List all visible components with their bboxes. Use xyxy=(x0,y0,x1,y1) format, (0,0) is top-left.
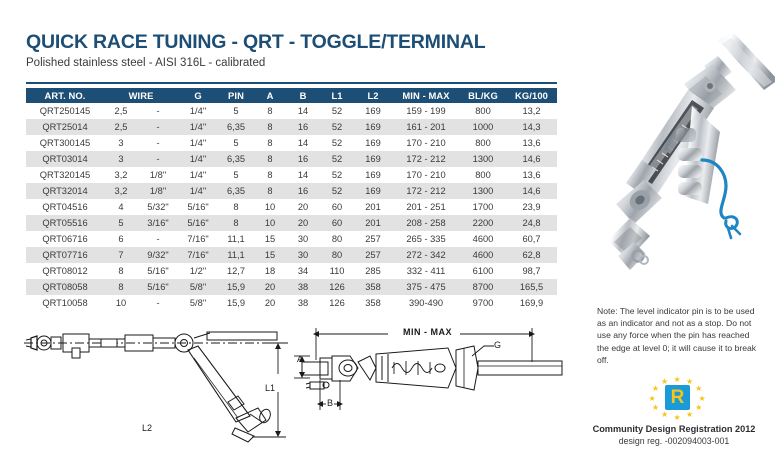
table-row: QRT0551653/16"5/16"8102060201208 - 25822… xyxy=(26,215,557,231)
col-header-art-no: ART. NO. xyxy=(26,88,104,103)
product-photo-illustration xyxy=(600,28,775,298)
cell-kg-100: 165,5 xyxy=(506,279,557,295)
cell-b: 16 xyxy=(286,119,320,135)
cell-kg-100: 24,8 xyxy=(506,215,557,231)
cell-g: 1/4" xyxy=(178,183,218,199)
cell-kg-100: 13,6 xyxy=(506,135,557,151)
eu-star: ★ xyxy=(674,376,681,383)
cell-l2: 257 xyxy=(354,247,392,263)
cell-min-max: 208 - 258 xyxy=(392,215,460,231)
header-divider xyxy=(26,82,557,84)
spec-table-body: QRT2501452,5-1/4"581452169159 - 19980013… xyxy=(26,103,557,311)
technical-drawing-side-view: L1 L2 xyxy=(22,330,290,445)
cell-l2: 169 xyxy=(354,135,392,151)
cell-bl-kg: 1700 xyxy=(460,199,506,215)
page-title: QUICK RACE TUNING - QRT - TOGGLE/TERMINA… xyxy=(26,32,546,53)
cell-a: 20 xyxy=(254,279,286,295)
cell-l1: 60 xyxy=(320,199,354,215)
cell-l1: 52 xyxy=(320,135,354,151)
cell-bl-kg: 6100 xyxy=(460,263,506,279)
cell-wire-mm: 3,2 xyxy=(104,183,138,199)
cell-min-max: 375 - 475 xyxy=(392,279,460,295)
cell-wire-inch: 3/16" xyxy=(138,215,178,231)
cell-kg-100: 14,3 xyxy=(506,119,557,135)
registered-r-icon: R xyxy=(665,385,690,410)
drawing-label-l2: L2 xyxy=(142,423,152,433)
col-header-l2: L2 xyxy=(354,88,392,103)
cell-g: 7/16" xyxy=(178,247,218,263)
cell-wire-mm: 6 xyxy=(104,231,138,247)
cell-wire-inch: - xyxy=(138,231,178,247)
table-row: QRT1005810-5/8"15,92038126358390-4909700… xyxy=(26,295,557,311)
cell-pin: 11,1 xyxy=(218,231,254,247)
drawing-label-l1: L1 xyxy=(265,383,275,393)
cell-l1: 126 xyxy=(320,295,354,311)
table-row: QRT030143-1/4"6,3581652169172 - 21213001… xyxy=(26,151,557,167)
cell-l2: 358 xyxy=(354,279,392,295)
cell-bl-kg: 800 xyxy=(460,167,506,183)
drawing-label-g: G xyxy=(494,340,501,350)
cell-a: 10 xyxy=(254,199,286,215)
drawing-label-a: A xyxy=(297,354,303,364)
credit-line-1: Community Design Registration 2012 xyxy=(574,424,774,436)
table-row: QRT0801285/16"1/2"12,71834110285332 - 41… xyxy=(26,263,557,279)
technical-drawing-extended-view: MIN - MAX A B G xyxy=(288,318,580,430)
cell-min-max: 172 - 212 xyxy=(392,183,460,199)
cell-l2: 169 xyxy=(354,167,392,183)
cell-l1: 52 xyxy=(320,183,354,199)
cell-bl-kg: 1300 xyxy=(460,151,506,167)
eu-star: ★ xyxy=(652,385,659,392)
cell-wire-inch: - xyxy=(138,135,178,151)
cell-min-max: 390-490 xyxy=(392,295,460,311)
cell-b: 14 xyxy=(286,135,320,151)
cell-wire-mm: 3 xyxy=(104,151,138,167)
table-row: QRT067166-7/16"11,1153080257265 - 335460… xyxy=(26,231,557,247)
cell-kg-100: 169,9 xyxy=(506,295,557,311)
cell-g: 5/8" xyxy=(178,279,218,295)
cell-wire-inch: 9/32" xyxy=(138,247,178,263)
cell-l1: 52 xyxy=(320,103,354,119)
col-header-g: G xyxy=(178,88,218,103)
cell-a: 8 xyxy=(254,167,286,183)
cell-wire-inch: 1/8" xyxy=(138,183,178,199)
cell-art-no: QRT03014 xyxy=(26,151,104,167)
cell-wire-mm: 4 xyxy=(104,199,138,215)
cell-b: 38 xyxy=(286,279,320,295)
cell-pin: 12,7 xyxy=(218,263,254,279)
table-row: QRT0805885/16"5/8"15,92038126358375 - 47… xyxy=(26,279,557,295)
eu-design-registration-badge: ★★★★★★★★★★★★ R xyxy=(648,376,706,420)
col-header-bl-kg: BL/KG xyxy=(460,88,506,103)
table-row: QRT3001453-1/4"581452169170 - 21080013,6 xyxy=(26,135,557,151)
cell-a: 18 xyxy=(254,263,286,279)
cell-a: 15 xyxy=(254,247,286,263)
cell-b: 30 xyxy=(286,247,320,263)
cell-a: 8 xyxy=(254,135,286,151)
page-header: QUICK RACE TUNING - QRT - TOGGLE/TERMINA… xyxy=(26,32,546,71)
cell-wire-inch: 5/16" xyxy=(138,279,178,295)
cell-l2: 169 xyxy=(354,183,392,199)
drawing-label-b: B xyxy=(327,398,333,408)
spec-table-header: ART. NO. WIRE G PIN A B L1 L2 MIN - MAX … xyxy=(26,88,557,103)
cell-wire-mm: 8 xyxy=(104,279,138,295)
table-row: QRT0771679/32"7/16"11,1153080257272 - 34… xyxy=(26,247,557,263)
cell-l2: 169 xyxy=(354,119,392,135)
cell-b: 16 xyxy=(286,151,320,167)
cell-l1: 110 xyxy=(320,263,354,279)
cell-l2: 201 xyxy=(354,199,392,215)
cell-min-max: 265 - 335 xyxy=(392,231,460,247)
cell-l2: 257 xyxy=(354,231,392,247)
cell-art-no: QRT08012 xyxy=(26,263,104,279)
cell-wire-mm: 5 xyxy=(104,215,138,231)
eu-star: ★ xyxy=(661,411,668,418)
cell-pin: 6,35 xyxy=(218,151,254,167)
eu-star: ★ xyxy=(686,411,693,418)
cell-kg-100: 14,6 xyxy=(506,183,557,199)
design-registration-credit: Community Design Registration 2012 desig… xyxy=(574,424,774,447)
cell-l1: 126 xyxy=(320,279,354,295)
cell-pin: 5 xyxy=(218,103,254,119)
col-header-b: B xyxy=(286,88,320,103)
cell-wire-inch: 5/32" xyxy=(138,199,178,215)
cell-wire-mm: 2,5 xyxy=(104,119,138,135)
drawing-label-min-max: MIN - MAX xyxy=(403,327,452,337)
cell-l2: 285 xyxy=(354,263,392,279)
col-header-min-max: MIN - MAX xyxy=(392,88,460,103)
spec-table-container: ART. NO. WIRE G PIN A B L1 L2 MIN - MAX … xyxy=(26,88,557,311)
cell-bl-kg: 800 xyxy=(460,103,506,119)
cell-art-no: QRT05516 xyxy=(26,215,104,231)
cell-g: 1/4" xyxy=(178,135,218,151)
cell-bl-kg: 2200 xyxy=(460,215,506,231)
col-header-a: A xyxy=(254,88,286,103)
cell-wire-mm: 3 xyxy=(104,135,138,151)
table-row: QRT250142,5-1/4"6,3581652169161 - 201100… xyxy=(26,119,557,135)
cell-pin: 15,9 xyxy=(218,279,254,295)
cell-pin: 15,9 xyxy=(218,295,254,311)
cell-a: 15 xyxy=(254,231,286,247)
cell-b: 34 xyxy=(286,263,320,279)
cell-kg-100: 62,8 xyxy=(506,247,557,263)
cell-g: 1/2" xyxy=(178,263,218,279)
cell-art-no: QRT320145 xyxy=(26,167,104,183)
product-spec-sheet: QUICK RACE TUNING - QRT - TOGGLE/TERMINA… xyxy=(0,0,777,448)
cell-wire-inch: 1/8" xyxy=(138,167,178,183)
cell-art-no: QRT300145 xyxy=(26,135,104,151)
credit-line-2: design reg. -002094003-001 xyxy=(574,436,774,447)
cell-b: 14 xyxy=(286,167,320,183)
cell-kg-100: 23,9 xyxy=(506,199,557,215)
cell-bl-kg: 8700 xyxy=(460,279,506,295)
cell-g: 7/16" xyxy=(178,231,218,247)
cell-pin: 6,35 xyxy=(218,183,254,199)
cell-art-no: QRT10058 xyxy=(26,295,104,311)
eu-star: ★ xyxy=(699,395,706,402)
cell-min-max: 272 - 342 xyxy=(392,247,460,263)
toggle-fork-end xyxy=(608,180,662,270)
eu-star: ★ xyxy=(661,378,668,385)
cell-bl-kg: 800 xyxy=(460,135,506,151)
cell-min-max: 159 - 199 xyxy=(392,103,460,119)
table-row: QRT3201453,21/8"1/4"581452169170 - 21080… xyxy=(26,167,557,183)
cell-l1: 80 xyxy=(320,231,354,247)
cell-min-max: 172 - 212 xyxy=(392,151,460,167)
cell-l1: 52 xyxy=(320,151,354,167)
cell-art-no: QRT32014 xyxy=(26,183,104,199)
cell-a: 8 xyxy=(254,119,286,135)
cell-wire-inch: 5/16" xyxy=(138,263,178,279)
cell-b: 16 xyxy=(286,183,320,199)
col-header-l1: L1 xyxy=(320,88,354,103)
cell-wire-inch: - xyxy=(138,151,178,167)
col-header-pin: PIN xyxy=(218,88,254,103)
cell-b: 14 xyxy=(286,103,320,119)
cell-wire-mm: 2,5 xyxy=(104,103,138,119)
cell-bl-kg: 1300 xyxy=(460,183,506,199)
eu-star: ★ xyxy=(695,404,702,411)
cell-pin: 6,35 xyxy=(218,119,254,135)
cell-kg-100: 60,7 xyxy=(506,231,557,247)
cell-min-max: 201 - 251 xyxy=(392,199,460,215)
cell-min-max: 170 - 210 xyxy=(392,167,460,183)
page-subtitle: Polished stainless steel - AISI 316L - c… xyxy=(26,57,546,71)
cell-pin: 8 xyxy=(218,199,254,215)
cell-g: 1/4" xyxy=(178,167,218,183)
cell-wire-inch: - xyxy=(138,295,178,311)
badge-core: R xyxy=(665,385,690,410)
cell-kg-100: 13,2 xyxy=(506,103,557,119)
cell-b: 20 xyxy=(286,215,320,231)
product-photo xyxy=(600,28,775,298)
cell-l2: 201 xyxy=(354,215,392,231)
cell-art-no: QRT06716 xyxy=(26,231,104,247)
cell-a: 8 xyxy=(254,183,286,199)
eu-star: ★ xyxy=(686,378,693,385)
cell-pin: 5 xyxy=(218,167,254,183)
cell-g: 1/4" xyxy=(178,103,218,119)
cell-a: 8 xyxy=(254,151,286,167)
cell-art-no: QRT07716 xyxy=(26,247,104,263)
cell-min-max: 170 - 210 xyxy=(392,135,460,151)
cell-art-no: QRT250145 xyxy=(26,103,104,119)
cell-a: 10 xyxy=(254,215,286,231)
cell-min-max: 161 - 201 xyxy=(392,119,460,135)
cell-bl-kg: 4600 xyxy=(460,247,506,263)
cell-l1: 52 xyxy=(320,119,354,135)
cell-l2: 169 xyxy=(354,151,392,167)
cell-g: 1/4" xyxy=(178,119,218,135)
cell-g: 5/8" xyxy=(178,295,218,311)
cell-l1: 60 xyxy=(320,215,354,231)
col-header-kg-100: KG/100 xyxy=(506,88,557,103)
cell-wire-mm: 8 xyxy=(104,263,138,279)
spec-table: ART. NO. WIRE G PIN A B L1 L2 MIN - MAX … xyxy=(26,88,557,311)
warning-note: Note: The level indicator pin is to be u… xyxy=(597,305,757,366)
cell-a: 8 xyxy=(254,103,286,119)
cell-wire-mm: 7 xyxy=(104,247,138,263)
cell-wire-inch: - xyxy=(138,119,178,135)
cell-l1: 52 xyxy=(320,167,354,183)
cell-l1: 80 xyxy=(320,247,354,263)
cell-g: 5/16" xyxy=(178,199,218,215)
cell-wire-mm: 3,2 xyxy=(104,167,138,183)
cell-bl-kg: 9700 xyxy=(460,295,506,311)
cell-l2: 358 xyxy=(354,295,392,311)
cell-bl-kg: 4600 xyxy=(460,231,506,247)
cell-wire-inch: - xyxy=(138,103,178,119)
cell-pin: 5 xyxy=(218,135,254,151)
cell-b: 20 xyxy=(286,199,320,215)
cell-art-no: QRT25014 xyxy=(26,119,104,135)
cell-l2: 169 xyxy=(354,103,392,119)
cell-pin: 8 xyxy=(218,215,254,231)
cell-g: 5/16" xyxy=(178,215,218,231)
table-row: QRT320143,21/8"1/4"6,3581652169172 - 212… xyxy=(26,183,557,199)
eu-star: ★ xyxy=(649,395,656,402)
cell-art-no: QRT08058 xyxy=(26,279,104,295)
cell-b: 38 xyxy=(286,295,320,311)
cell-wire-mm: 10 xyxy=(104,295,138,311)
cell-kg-100: 13,6 xyxy=(506,167,557,183)
table-row: QRT2501452,5-1/4"581452169159 - 19980013… xyxy=(26,103,557,119)
cell-bl-kg: 1000 xyxy=(460,119,506,135)
eu-star: ★ xyxy=(674,414,681,421)
cell-kg-100: 98,7 xyxy=(506,263,557,279)
drawing-left-svg xyxy=(22,330,290,445)
eu-star: ★ xyxy=(695,385,702,392)
header-row: ART. NO. WIRE G PIN A B L1 L2 MIN - MAX … xyxy=(26,88,557,103)
col-header-wire: WIRE xyxy=(104,88,178,103)
cell-kg-100: 14,6 xyxy=(506,151,557,167)
table-row: QRT0451645/32"5/16"8102060201201 - 25117… xyxy=(26,199,557,215)
cell-art-no: QRT04516 xyxy=(26,199,104,215)
cell-min-max: 332 - 411 xyxy=(392,263,460,279)
cell-g: 1/4" xyxy=(178,151,218,167)
cell-pin: 11,1 xyxy=(218,247,254,263)
eu-star: ★ xyxy=(652,404,659,411)
cell-b: 30 xyxy=(286,231,320,247)
cell-a: 20 xyxy=(254,295,286,311)
